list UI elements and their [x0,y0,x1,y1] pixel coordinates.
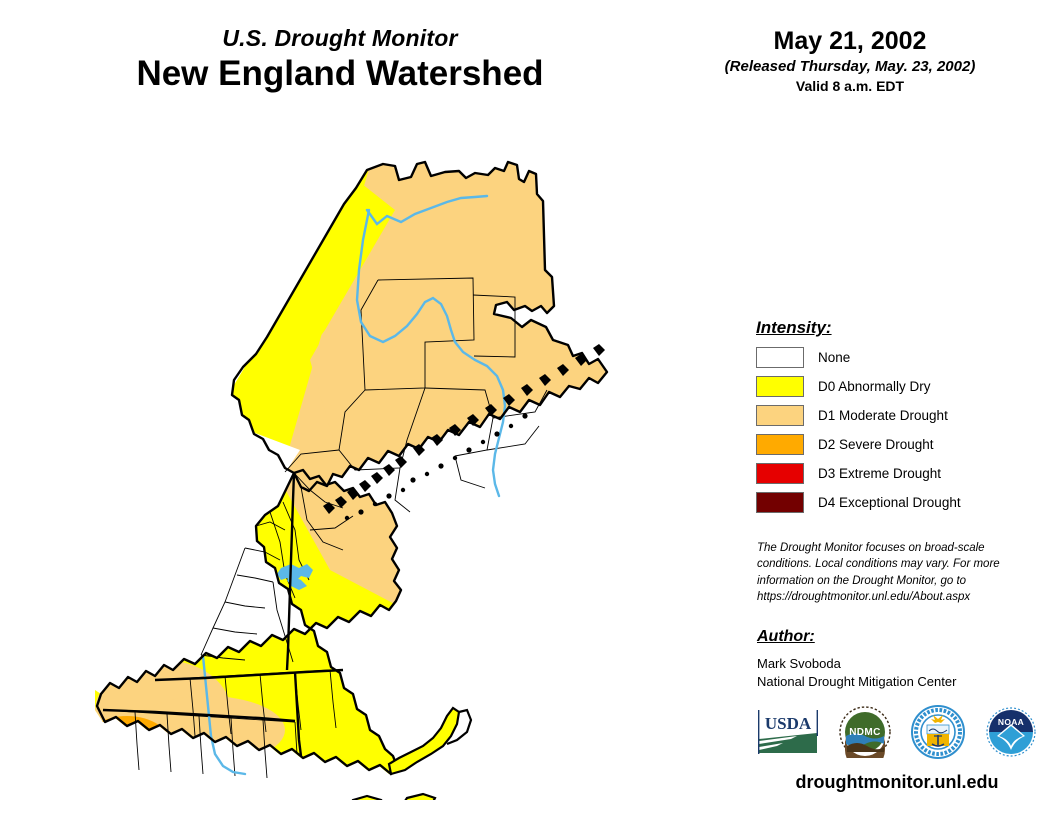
page-title: New England Watershed [60,54,620,94]
map-container[interactable] [95,150,675,800]
legend-swatch-d2 [756,434,804,455]
legend-label-none: None [818,350,850,365]
legend-title: Intensity: [756,318,1016,338]
valid-time: Valid 8 a.m. EDT [690,79,1010,94]
legend-item-d3[interactable]: D3 Extreme Drought [756,461,1016,486]
author-affiliation: National Drought Mitigation Center [757,673,1027,691]
legend-swatch-d4 [756,492,804,513]
drought-bands-layer [95,150,675,800]
site-url[interactable]: droughtmonitor.unl.edu [757,772,1037,793]
legend-label-d0: D0 Abnormally Dry [818,379,931,394]
ndmc-logo[interactable]: NDMC [839,706,891,763]
legend-swatch-d3 [756,463,804,484]
page-supertitle: U.S. Drought Monitor [60,26,620,50]
author-name: Mark Svoboda [757,655,1027,673]
usda-logo-text: USDA [765,714,812,733]
new-england-watershed-map[interactable] [95,150,675,800]
legend-swatch-none [756,347,804,368]
author-block: Author: Mark Svoboda National Drought Mi… [757,628,1027,691]
legend-item-d1[interactable]: D1 Moderate Drought [756,403,1016,428]
valid-date: May 21, 2002 [690,28,1010,56]
author-heading: Author: [757,628,1027,646]
legend-swatch-d1 [756,405,804,426]
legend: Intensity: None D0 Abnormally Dry D1 Mod… [756,318,1016,519]
noaa-logo[interactable]: NOAA [985,706,1037,763]
usda-logo[interactable]: USDA [757,709,819,760]
legend-item-d2[interactable]: D2 Severe Drought [756,432,1016,457]
drought-monitor-map-page: U.S. Drought Monitor New England Watersh… [0,0,1056,816]
ndmc-logo-text: NDMC [849,727,881,738]
noaa-logo-text: NOAA [998,717,1024,727]
noaa-seal-logo[interactable] [911,705,965,764]
logos-row: USDA NDMC [757,704,1037,764]
legend-label-d4: D4 Exceptional Drought [818,495,961,510]
cape-cod [389,708,459,774]
legend-swatch-d0 [756,376,804,397]
disclaimer-text: The Drought Monitor focuses on broad-sca… [757,540,1019,605]
legend-item-d0[interactable]: D0 Abnormally Dry [756,374,1016,399]
date-block: May 21, 2002 (Released Thursday, May. 23… [690,28,1010,94]
marthas-vineyard [349,796,381,800]
legend-label-d1: D1 Moderate Drought [818,408,948,423]
legend-label-d2: D2 Severe Drought [818,437,934,452]
legend-item-d4[interactable]: D4 Exceptional Drought [756,490,1016,515]
nantucket [403,794,435,800]
title-block: U.S. Drought Monitor New England Watersh… [60,26,620,94]
release-date: (Released Thursday, May. 23, 2002) [690,59,1010,76]
legend-item-none[interactable]: None [756,345,1016,370]
legend-label-d3: D3 Extreme Drought [818,466,941,481]
